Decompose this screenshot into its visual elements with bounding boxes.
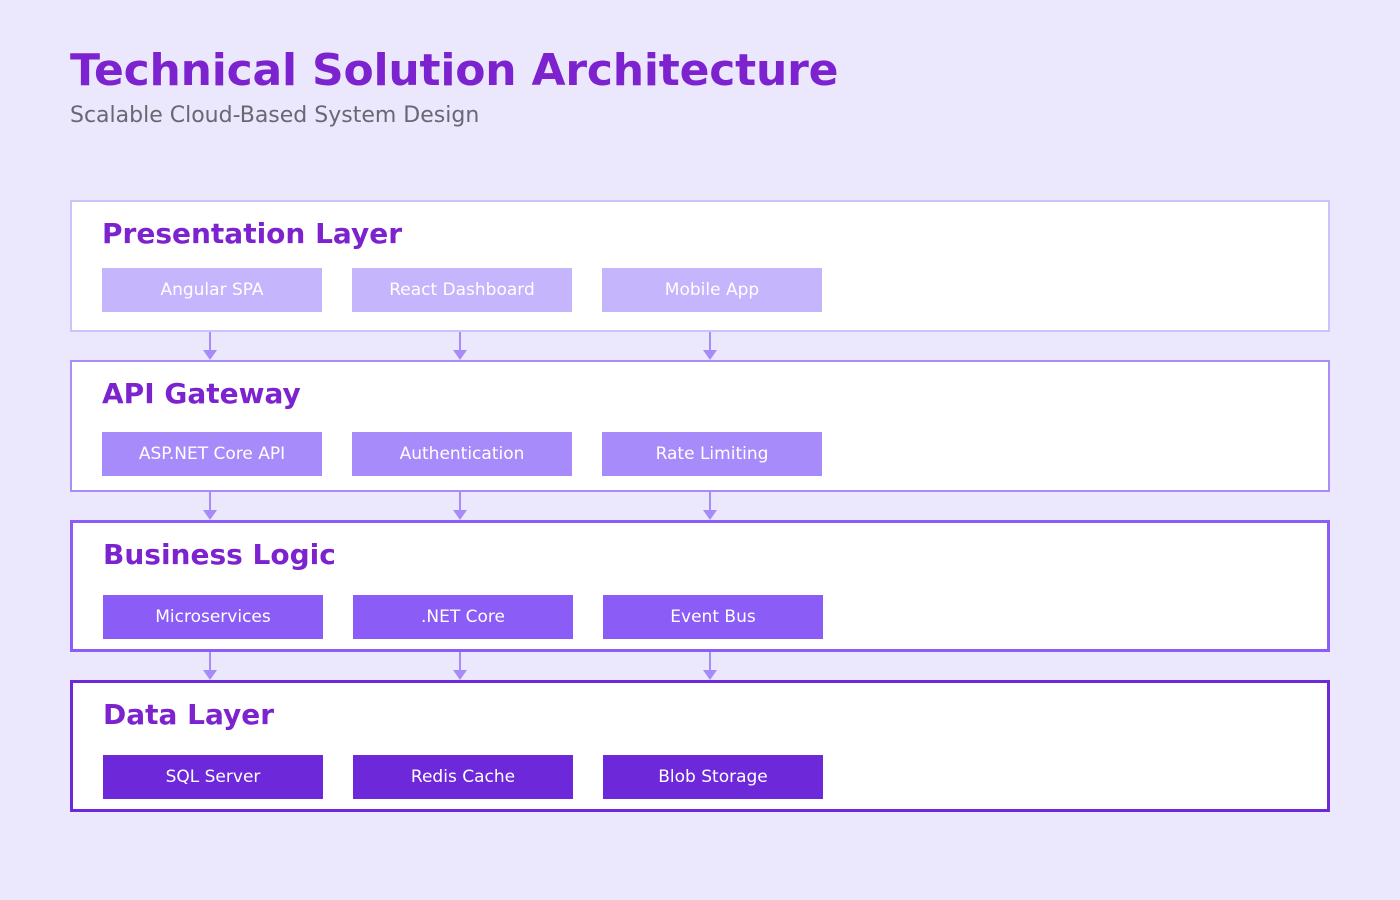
arrow-head <box>703 670 717 680</box>
connector-group <box>70 332 1330 360</box>
node-chip[interactable]: Microservices <box>103 595 323 639</box>
arrow-down-icon <box>702 492 718 520</box>
arrow-head <box>703 510 717 520</box>
layer-box: Data Layer SQL Server Redis Cache Blob S… <box>70 680 1330 812</box>
layer-presentation: Presentation Layer Angular SPA React Das… <box>70 200 1330 332</box>
arrow-line <box>459 652 461 672</box>
node-chip[interactable]: React Dashboard <box>352 268 572 312</box>
layer-box: Business Logic Microservices .NET Core E… <box>70 520 1330 652</box>
node-chip[interactable]: SQL Server <box>103 755 323 799</box>
node-chip[interactable]: Blob Storage <box>603 755 823 799</box>
layer-box: API Gateway ASP.NET Core API Authenticat… <box>70 360 1330 492</box>
layer-box: Presentation Layer Angular SPA React Das… <box>70 200 1330 332</box>
arrow-line <box>209 492 211 512</box>
arrow-line <box>209 652 211 672</box>
arrow-down-icon <box>702 332 718 360</box>
layer-business-logic: Business Logic Microservices .NET Core E… <box>70 520 1330 652</box>
arrow-down-icon <box>202 332 218 360</box>
node-chip[interactable]: Redis Cache <box>353 755 573 799</box>
arrow-line <box>709 332 711 352</box>
layer-data: Data Layer SQL Server Redis Cache Blob S… <box>70 680 1330 812</box>
arrow-head <box>203 350 217 360</box>
arrow-down-icon <box>702 652 718 680</box>
arrow-head <box>453 350 467 360</box>
architecture-diagram-page: Technical Solution Architecture Scalable… <box>0 0 1400 900</box>
connector-group <box>70 652 1330 680</box>
arrow-line <box>459 332 461 352</box>
arrow-head <box>203 670 217 680</box>
layer-title: Data Layer <box>103 701 274 729</box>
node-chip[interactable]: Mobile App <box>602 268 822 312</box>
layer-title: Presentation Layer <box>102 220 402 248</box>
layer-title: Business Logic <box>103 541 336 569</box>
page-title: Technical Solution Architecture <box>70 48 1070 94</box>
arrow-down-icon <box>202 492 218 520</box>
node-chip[interactable]: Rate Limiting <box>602 432 822 476</box>
arrow-line <box>709 492 711 512</box>
layer-stack: Presentation Layer Angular SPA React Das… <box>70 200 1330 812</box>
arrow-head <box>453 510 467 520</box>
arrow-head <box>453 670 467 680</box>
arrow-line <box>709 652 711 672</box>
node-chip[interactable]: Authentication <box>352 432 572 476</box>
connector-group <box>70 492 1330 520</box>
node-chip[interactable]: Event Bus <box>603 595 823 639</box>
arrow-line <box>209 332 211 352</box>
node-chip[interactable]: Angular SPA <box>102 268 322 312</box>
arrow-down-icon <box>452 492 468 520</box>
node-chip[interactable]: ASP.NET Core API <box>102 432 322 476</box>
page-subtitle: Scalable Cloud-Based System Design <box>70 104 1070 128</box>
layer-title: API Gateway <box>102 380 301 408</box>
arrow-head <box>703 350 717 360</box>
arrow-down-icon <box>452 332 468 360</box>
node-chip[interactable]: .NET Core <box>353 595 573 639</box>
layer-api-gateway: API Gateway ASP.NET Core API Authenticat… <box>70 360 1330 492</box>
arrow-head <box>203 510 217 520</box>
arrow-down-icon <box>202 652 218 680</box>
arrow-line <box>459 492 461 512</box>
page-header: Technical Solution Architecture Scalable… <box>70 48 1070 128</box>
arrow-down-icon <box>452 652 468 680</box>
